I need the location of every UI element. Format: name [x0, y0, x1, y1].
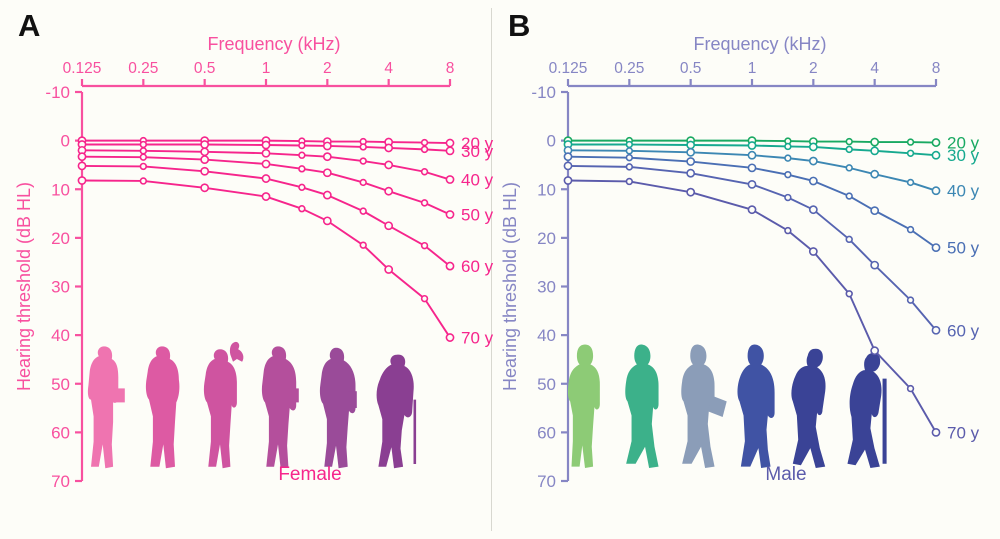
series-50-y: 50 y	[78, 153, 493, 224]
silhouette-figure	[847, 353, 886, 468]
audiogram-female-chart: 0.1250.250.51248Frequency (kHz)-10010203…	[0, 0, 500, 539]
y-tick-label: 40	[537, 326, 556, 345]
sex-label: Female	[278, 464, 341, 485]
figure-root: A 0.1250.250.51248Frequency (kHz)-100102…	[0, 0, 1000, 539]
audiogram-male-chart: 0.1250.250.51248Frequency (kHz)-10010203…	[486, 0, 1000, 539]
y-axis-title: Hearing threshold (dB HL)	[14, 182, 34, 391]
y-tick-label: 70	[51, 472, 70, 491]
silhouette-figure	[204, 342, 244, 468]
y-tick-label: 0	[547, 132, 556, 151]
y-tick-label: 20	[51, 229, 70, 248]
series-label: 30 y	[947, 146, 980, 165]
x-tick-label: 0.125	[549, 60, 588, 77]
series-label: 60 y	[947, 321, 980, 340]
silhouette-group	[88, 342, 416, 468]
x-tick-label: 1	[748, 60, 757, 77]
series-70-y: 70 y	[78, 177, 493, 348]
y-tick-label: 60	[51, 423, 70, 442]
x-axis-title: Frequency (kHz)	[207, 34, 340, 54]
y-tick-label: -10	[45, 83, 70, 102]
y-axis-title: Hearing threshold (dB HL)	[500, 182, 520, 391]
y-tick-label: 20	[537, 229, 556, 248]
x-tick-label: 0.5	[194, 60, 216, 77]
series-label: 40 y	[947, 182, 980, 201]
silhouette-figure	[377, 355, 417, 469]
silhouette-figure	[568, 345, 600, 469]
silhouette-figure	[320, 348, 357, 468]
x-tick-label: 4	[384, 60, 393, 77]
silhouette-figure	[88, 346, 125, 468]
series-label: 70 y	[947, 423, 980, 442]
y-tick-label: 10	[51, 180, 70, 199]
silhouette-figure	[791, 349, 825, 468]
y-tick-label: 30	[537, 278, 556, 297]
sex-label: Male	[765, 464, 806, 485]
x-tick-label: 0.25	[614, 60, 644, 77]
y-tick-label: 50	[537, 375, 556, 394]
x-tick-label: 4	[870, 60, 879, 77]
silhouette-figure	[262, 346, 299, 468]
x-tick-label: 0.5	[680, 60, 702, 77]
y-tick-label: 50	[51, 375, 70, 394]
silhouette-group	[568, 345, 887, 469]
y-tick-label: -10	[531, 83, 556, 102]
y-tick-label: 40	[51, 326, 70, 345]
y-tick-label: 0	[61, 132, 70, 151]
silhouette-figure	[681, 345, 726, 469]
silhouette-figure	[146, 346, 180, 468]
x-tick-label: 0.25	[128, 60, 158, 77]
series-label: 50 y	[947, 239, 980, 258]
x-tick-label: 8	[446, 60, 455, 77]
x-tick-label: 2	[323, 60, 332, 77]
panel-female: A 0.1250.250.51248Frequency (kHz)-100102…	[0, 0, 500, 539]
silhouette-figure	[625, 345, 658, 469]
series-60-y: 60 y	[564, 162, 979, 340]
x-tick-label: 2	[809, 60, 818, 77]
y-tick-label: 60	[537, 423, 556, 442]
y-tick-label: 30	[51, 278, 70, 297]
x-tick-label: 0.125	[63, 60, 102, 77]
x-axis-title: Frequency (kHz)	[693, 34, 826, 54]
y-tick-label: 10	[537, 180, 556, 199]
x-tick-label: 1	[262, 60, 271, 77]
x-tick-label: 8	[932, 60, 941, 77]
y-tick-label: 70	[537, 472, 556, 491]
silhouette-figure	[737, 345, 774, 469]
panel-male: B 0.1250.250.51248Frequency (kHz)-100102…	[486, 0, 1000, 539]
